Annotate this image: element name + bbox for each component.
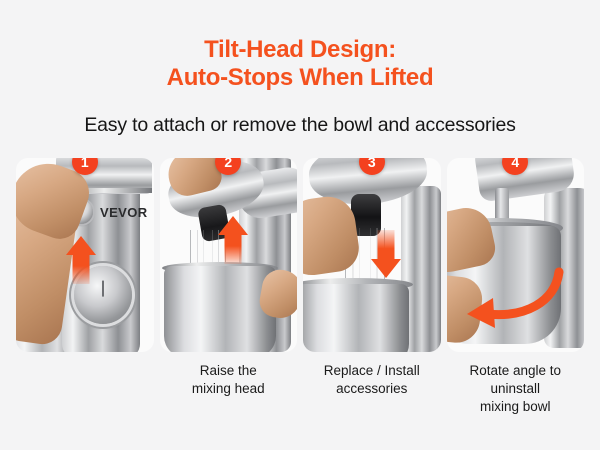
arrow-up-icon	[66, 236, 96, 286]
step-3-caption: Replace / Install accessories	[303, 362, 441, 432]
step-panel-strip: VEVOR 1	[16, 158, 584, 352]
caption-line: mixing bowl	[480, 399, 551, 414]
mixing-bowl-shape	[164, 266, 276, 352]
promo-banner: Tilt-Head Design: Auto-Stops When Lifted…	[0, 0, 600, 450]
caption-line: Rotate angle to	[469, 363, 561, 378]
title-line-1: Tilt-Head Design:	[0, 36, 600, 64]
step-panel-4: 4	[447, 158, 585, 352]
step-panel-2: 2	[160, 158, 298, 352]
caption-line: Replace / Install	[324, 363, 420, 378]
caption-line: mixing head	[192, 381, 265, 396]
curved-arrow-counterclockwise-icon	[451, 262, 567, 328]
step-4-illustration	[447, 158, 585, 352]
brand-logo: VEVOR	[100, 205, 148, 220]
step-panel-3: 3	[303, 158, 441, 352]
title-line-2: Auto-Stops When Lifted	[0, 64, 600, 92]
step-3-illustration	[303, 158, 441, 352]
arrow-down-icon	[371, 230, 401, 280]
step-1-caption	[16, 362, 154, 432]
page-subtitle: Easy to attach or remove the bowl and ac…	[0, 113, 600, 137]
mixing-bowl-shape	[303, 284, 409, 352]
drive-shaft-shape	[495, 188, 509, 222]
step-4-caption: Rotate angle to uninstall mixing bowl	[447, 362, 585, 432]
page-title: Tilt-Head Design: Auto-Stops When Lifted	[0, 36, 600, 92]
step-panel-1: VEVOR 1	[16, 158, 154, 352]
caption-line: accessories	[336, 381, 407, 396]
caption-line: Raise the	[200, 363, 257, 378]
step-2-caption: Raise the mixing head	[160, 362, 298, 432]
caption-line: uninstall	[490, 381, 540, 396]
caption-row: Raise the mixing head Replace / Install …	[16, 362, 584, 432]
step-1-illustration: VEVOR	[16, 158, 154, 352]
arrow-up-icon	[218, 216, 248, 266]
step-2-illustration	[160, 158, 298, 352]
